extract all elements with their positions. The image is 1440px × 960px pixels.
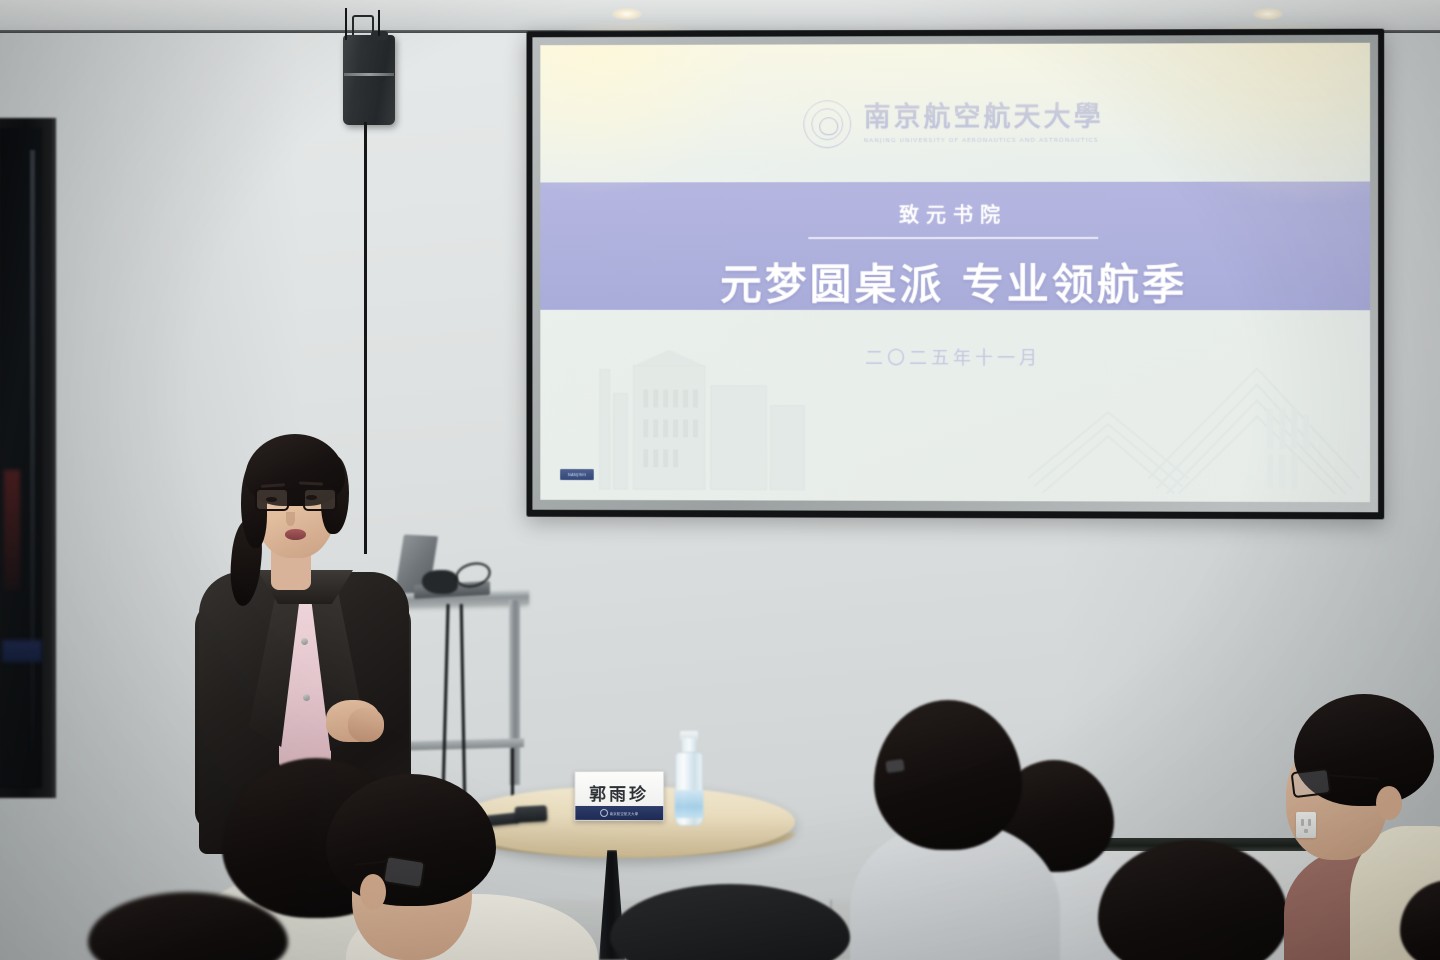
lecture-room-photo: 南京航空航天大學 NANJING UNIVERSITY OF AERONAUTI… — [0, 0, 1440, 960]
outlet-slot — [1308, 819, 1311, 826]
name-placard-text: 郭雨珍 — [575, 780, 663, 805]
presenter-eye-left — [266, 497, 277, 502]
presenter-hand-upper — [348, 708, 384, 742]
list-item — [330, 774, 580, 960]
screen-glare-left — [540, 45, 758, 195]
wall-speaker-icon — [343, 35, 395, 125]
student-head — [1400, 880, 1440, 960]
power-cable — [378, 10, 380, 36]
list-item — [88, 892, 278, 960]
screen-glare-right — [1108, 43, 1370, 204]
bottle-label — [675, 790, 703, 818]
jacket-button — [303, 694, 310, 701]
university-seal-icon — [600, 809, 608, 817]
power-outlet-icon — [1296, 812, 1316, 838]
jacket-button — [301, 638, 308, 645]
recessed-downlight-icon — [1253, 8, 1283, 20]
eyeglasses-icon — [1291, 768, 1332, 798]
student-head — [874, 700, 1022, 850]
glasses-bridge — [289, 496, 303, 499]
presenter-mouth — [285, 529, 306, 540]
name-placard-footer: 南京航空航天大學 — [575, 806, 663, 820]
name-placard: 郭雨珍 南京航空航天大學 — [574, 771, 664, 821]
lens-right — [303, 488, 337, 511]
eyeglasses-icon — [382, 855, 426, 889]
doorway-glass — [0, 128, 42, 788]
student-ear — [1376, 786, 1402, 820]
student-head — [88, 892, 288, 960]
doorway-shelf — [2, 640, 42, 662]
presenter-nose — [286, 512, 295, 526]
projection-screen: 南京航空航天大學 NANJING UNIVERSITY OF AERONAUTI… — [526, 29, 1384, 520]
list-item — [610, 884, 840, 960]
slide-title: 元梦圆桌派 专业领航季 — [540, 250, 1370, 311]
recessed-downlight-icon — [612, 8, 642, 20]
eyeglasses-icon — [883, 757, 907, 776]
presenter-eye-right — [306, 495, 317, 500]
power-cable — [345, 8, 347, 40]
outlet-slot — [1304, 829, 1308, 833]
doorway-reflection — [4, 470, 20, 590]
list-item — [1400, 880, 1440, 960]
student-head — [1098, 840, 1288, 960]
outlet-slot — [1301, 819, 1304, 826]
speaker-grille-line — [344, 73, 394, 76]
laptop-accessory — [422, 570, 458, 594]
list-item — [862, 700, 1042, 960]
screen-surface: 南京航空航天大學 NANJING UNIVERSITY OF AERONAUTI… — [540, 43, 1370, 502]
list-item — [1098, 840, 1288, 960]
screen-brand-label: NANJING — [560, 469, 594, 480]
title-divider — [808, 237, 1098, 239]
presentation-slide: 南京航空航天大學 NANJING UNIVERSITY OF AERONAUTI… — [540, 43, 1370, 502]
name-placard-org: 南京航空航天大學 — [610, 810, 639, 815]
slide-date: 二〇二五年十一月 — [540, 344, 1370, 371]
student-head — [610, 884, 850, 960]
